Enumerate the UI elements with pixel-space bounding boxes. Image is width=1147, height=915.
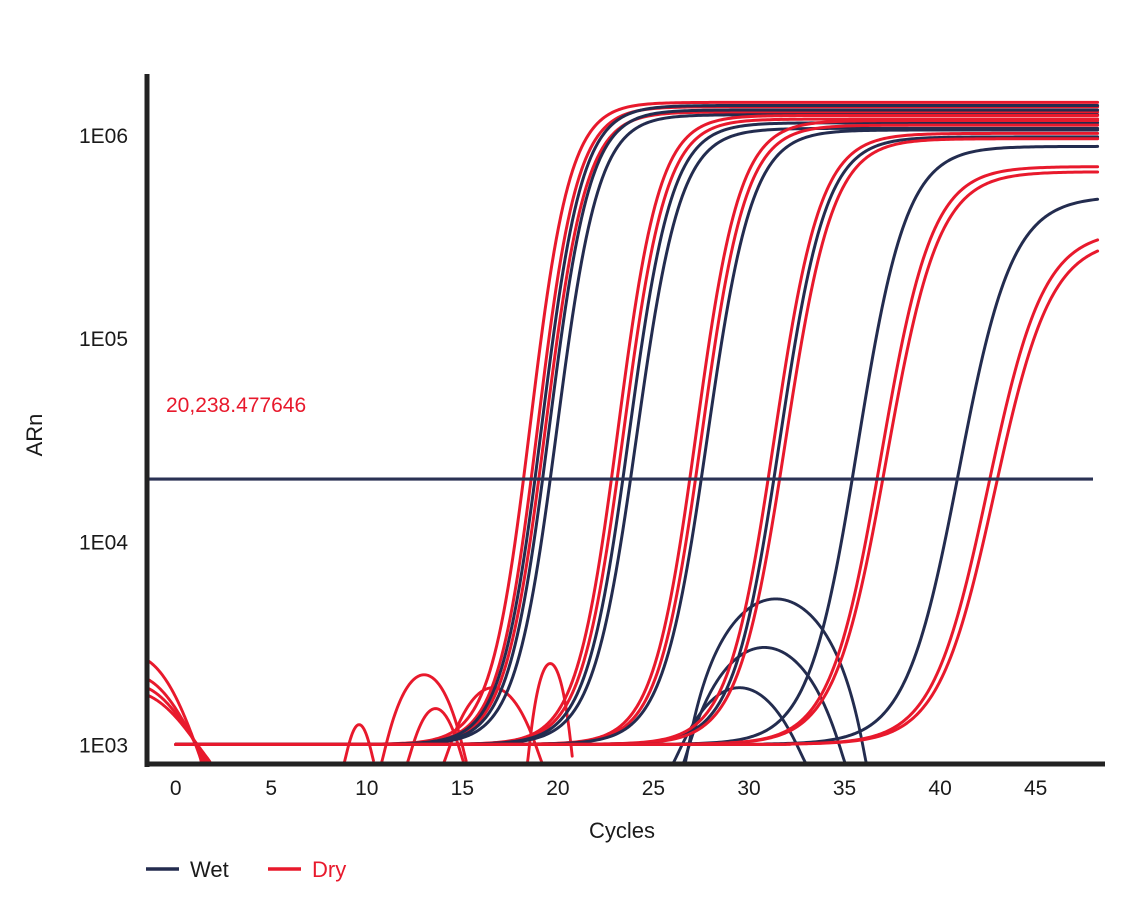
amplification-curve-wet (176, 105, 1098, 744)
amplification-curve-dry (176, 172, 1098, 744)
x-axis-title: Cycles (589, 818, 655, 843)
legend-layer: WetDry (146, 857, 346, 882)
x-tick-label: 20 (546, 777, 569, 800)
x-tick-label: 10 (355, 777, 378, 800)
amplification-curve-dry (176, 102, 1098, 744)
y-tick-label: 1E06 (79, 125, 128, 148)
y-tick-label: 1E03 (79, 734, 128, 757)
amplification-curve-dry (176, 240, 1098, 744)
threshold-value-label: 20,238.477646 (166, 394, 306, 417)
amplification-curve-wet (176, 199, 1098, 744)
legend-label-wet: Wet (190, 857, 229, 882)
curves-layer (147, 102, 1098, 764)
x-tick-label: 25 (642, 777, 665, 800)
legend-label-dry: Dry (312, 857, 346, 882)
y-tick-label: 1E04 (79, 531, 128, 554)
x-tick-label: 5 (265, 777, 277, 800)
amplification-curve-wet (176, 128, 1098, 744)
x-tick-label: 30 (737, 777, 760, 800)
x-tick-label: 45 (1024, 777, 1047, 800)
amplification-curve-dry (176, 167, 1098, 745)
x-tick-label: 0 (170, 777, 182, 800)
y-axis-title: ARn (22, 414, 47, 457)
x-tick-label: 35 (833, 777, 856, 800)
x-tick-label: 40 (928, 777, 951, 800)
amplification-curve-dry (176, 251, 1098, 744)
y-tick-label: 1E05 (79, 328, 128, 351)
plot-svg: 0510152025303540451E031E041E051E06 WetDr… (0, 0, 1147, 915)
qpcr-amplification-chart: 0510152025303540451E031E041E051E06 WetDr… (0, 0, 1147, 915)
x-tick-label: 15 (451, 777, 474, 800)
